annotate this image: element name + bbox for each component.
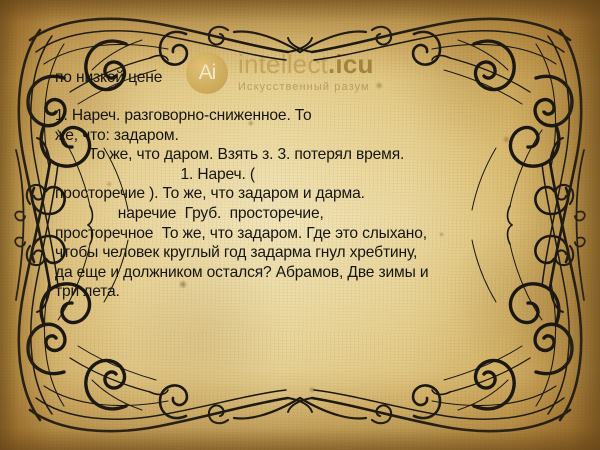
parchment-page: Ai intellect.icu Искусственный разум [0, 0, 600, 450]
entry-body-line: То же, что даром. Взять з. 3. потерял вр… [55, 145, 555, 165]
entry-body-line: 1. Нареч. разговорно-сниженное. То [55, 106, 555, 126]
entry-body: 1. Нареч. разговорно-сниженное. Тоже, чт… [55, 106, 555, 302]
entry-body-line: просторечное То же, что задаром. Где это… [55, 224, 555, 244]
entry-body-line: же, что: задаром. [55, 126, 555, 146]
entry-heading: по низкой цене [55, 68, 162, 88]
entry-body-line: чтобы человек круглый год задарма гнул х… [55, 243, 555, 263]
entry-body-line: три лета. [55, 282, 555, 302]
entry-text: по низкой цене 1. Нареч. разговорно-сниж… [0, 0, 600, 450]
entry-body-line: наречие Груб. просторечие, [55, 204, 555, 224]
entry-body-line: просторечие ). То же, что задаром и дарм… [55, 184, 555, 204]
entry-body-line: да еще и должником остался? Абрамов, Две… [55, 263, 555, 283]
entry-body-line: 1. Нареч. ( [55, 165, 555, 185]
